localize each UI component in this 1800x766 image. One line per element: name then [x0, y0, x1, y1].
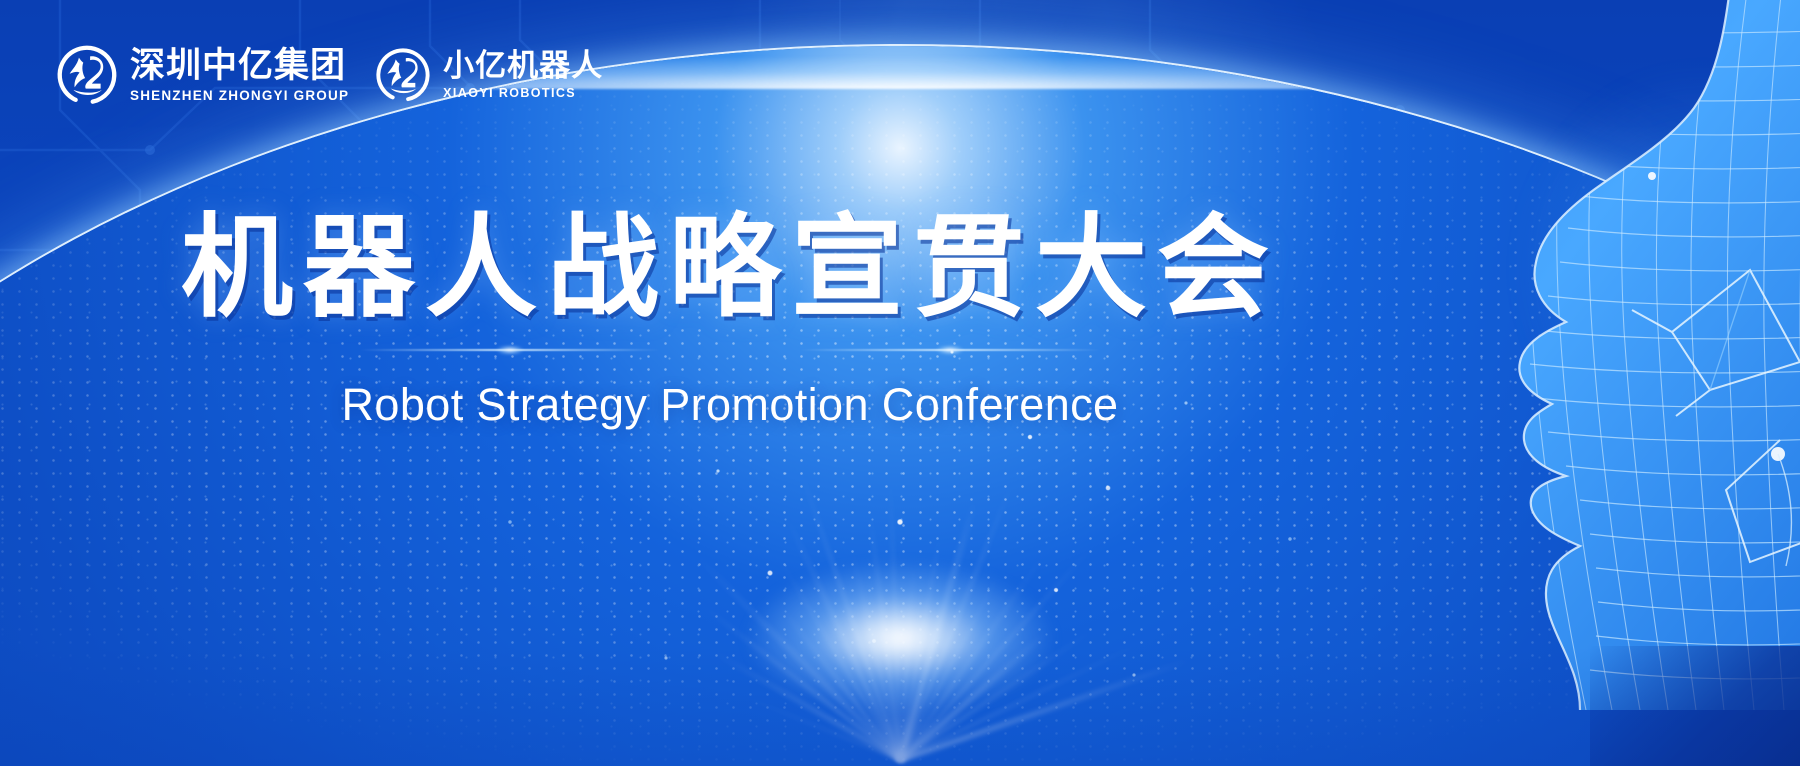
title-block: 机器人战略宣贯大会 Robot Strategy Promotion Confe…	[0, 206, 1460, 431]
light-streak-right-icon	[800, 349, 1100, 351]
logo-xiaoyi-robotics[interactable]: 小亿机器人 XIAOYI ROBOTICS	[375, 47, 603, 103]
page-title: 机器人战略宣贯大会	[0, 206, 1460, 331]
logo-shenzhen-zhongyi-group[interactable]: 深圳中亿集团 SHENZHEN ZHONGYI GROUP	[56, 44, 349, 106]
conference-banner: 深圳中亿集团 SHENZHEN ZHONGYI GROUP 小亿机器人 XIAO…	[0, 0, 1800, 766]
zhongyi-emblem-icon	[56, 44, 118, 106]
light-streak-left-icon	[360, 349, 660, 351]
xiaoyi-emblem-icon	[375, 47, 431, 103]
logo-text-block: 小亿机器人 XIAOYI ROBOTICS	[443, 50, 603, 100]
page-subtitle: Robot Strategy Promotion Conference	[0, 379, 1460, 431]
logo-cn-name: 深圳中亿集团	[130, 48, 349, 83]
logo-bar: 深圳中亿集团 SHENZHEN ZHONGYI GROUP 小亿机器人 XIAO…	[56, 44, 603, 106]
logo-en-name: SHENZHEN ZHONGYI GROUP	[130, 89, 349, 103]
logo-text-block: 深圳中亿集团 SHENZHEN ZHONGYI GROUP	[130, 48, 349, 103]
logo-en-name: XIAOYI ROBOTICS	[443, 87, 603, 100]
decorative-streaks	[0, 337, 1460, 363]
logo-cn-name: 小亿机器人	[443, 50, 603, 81]
